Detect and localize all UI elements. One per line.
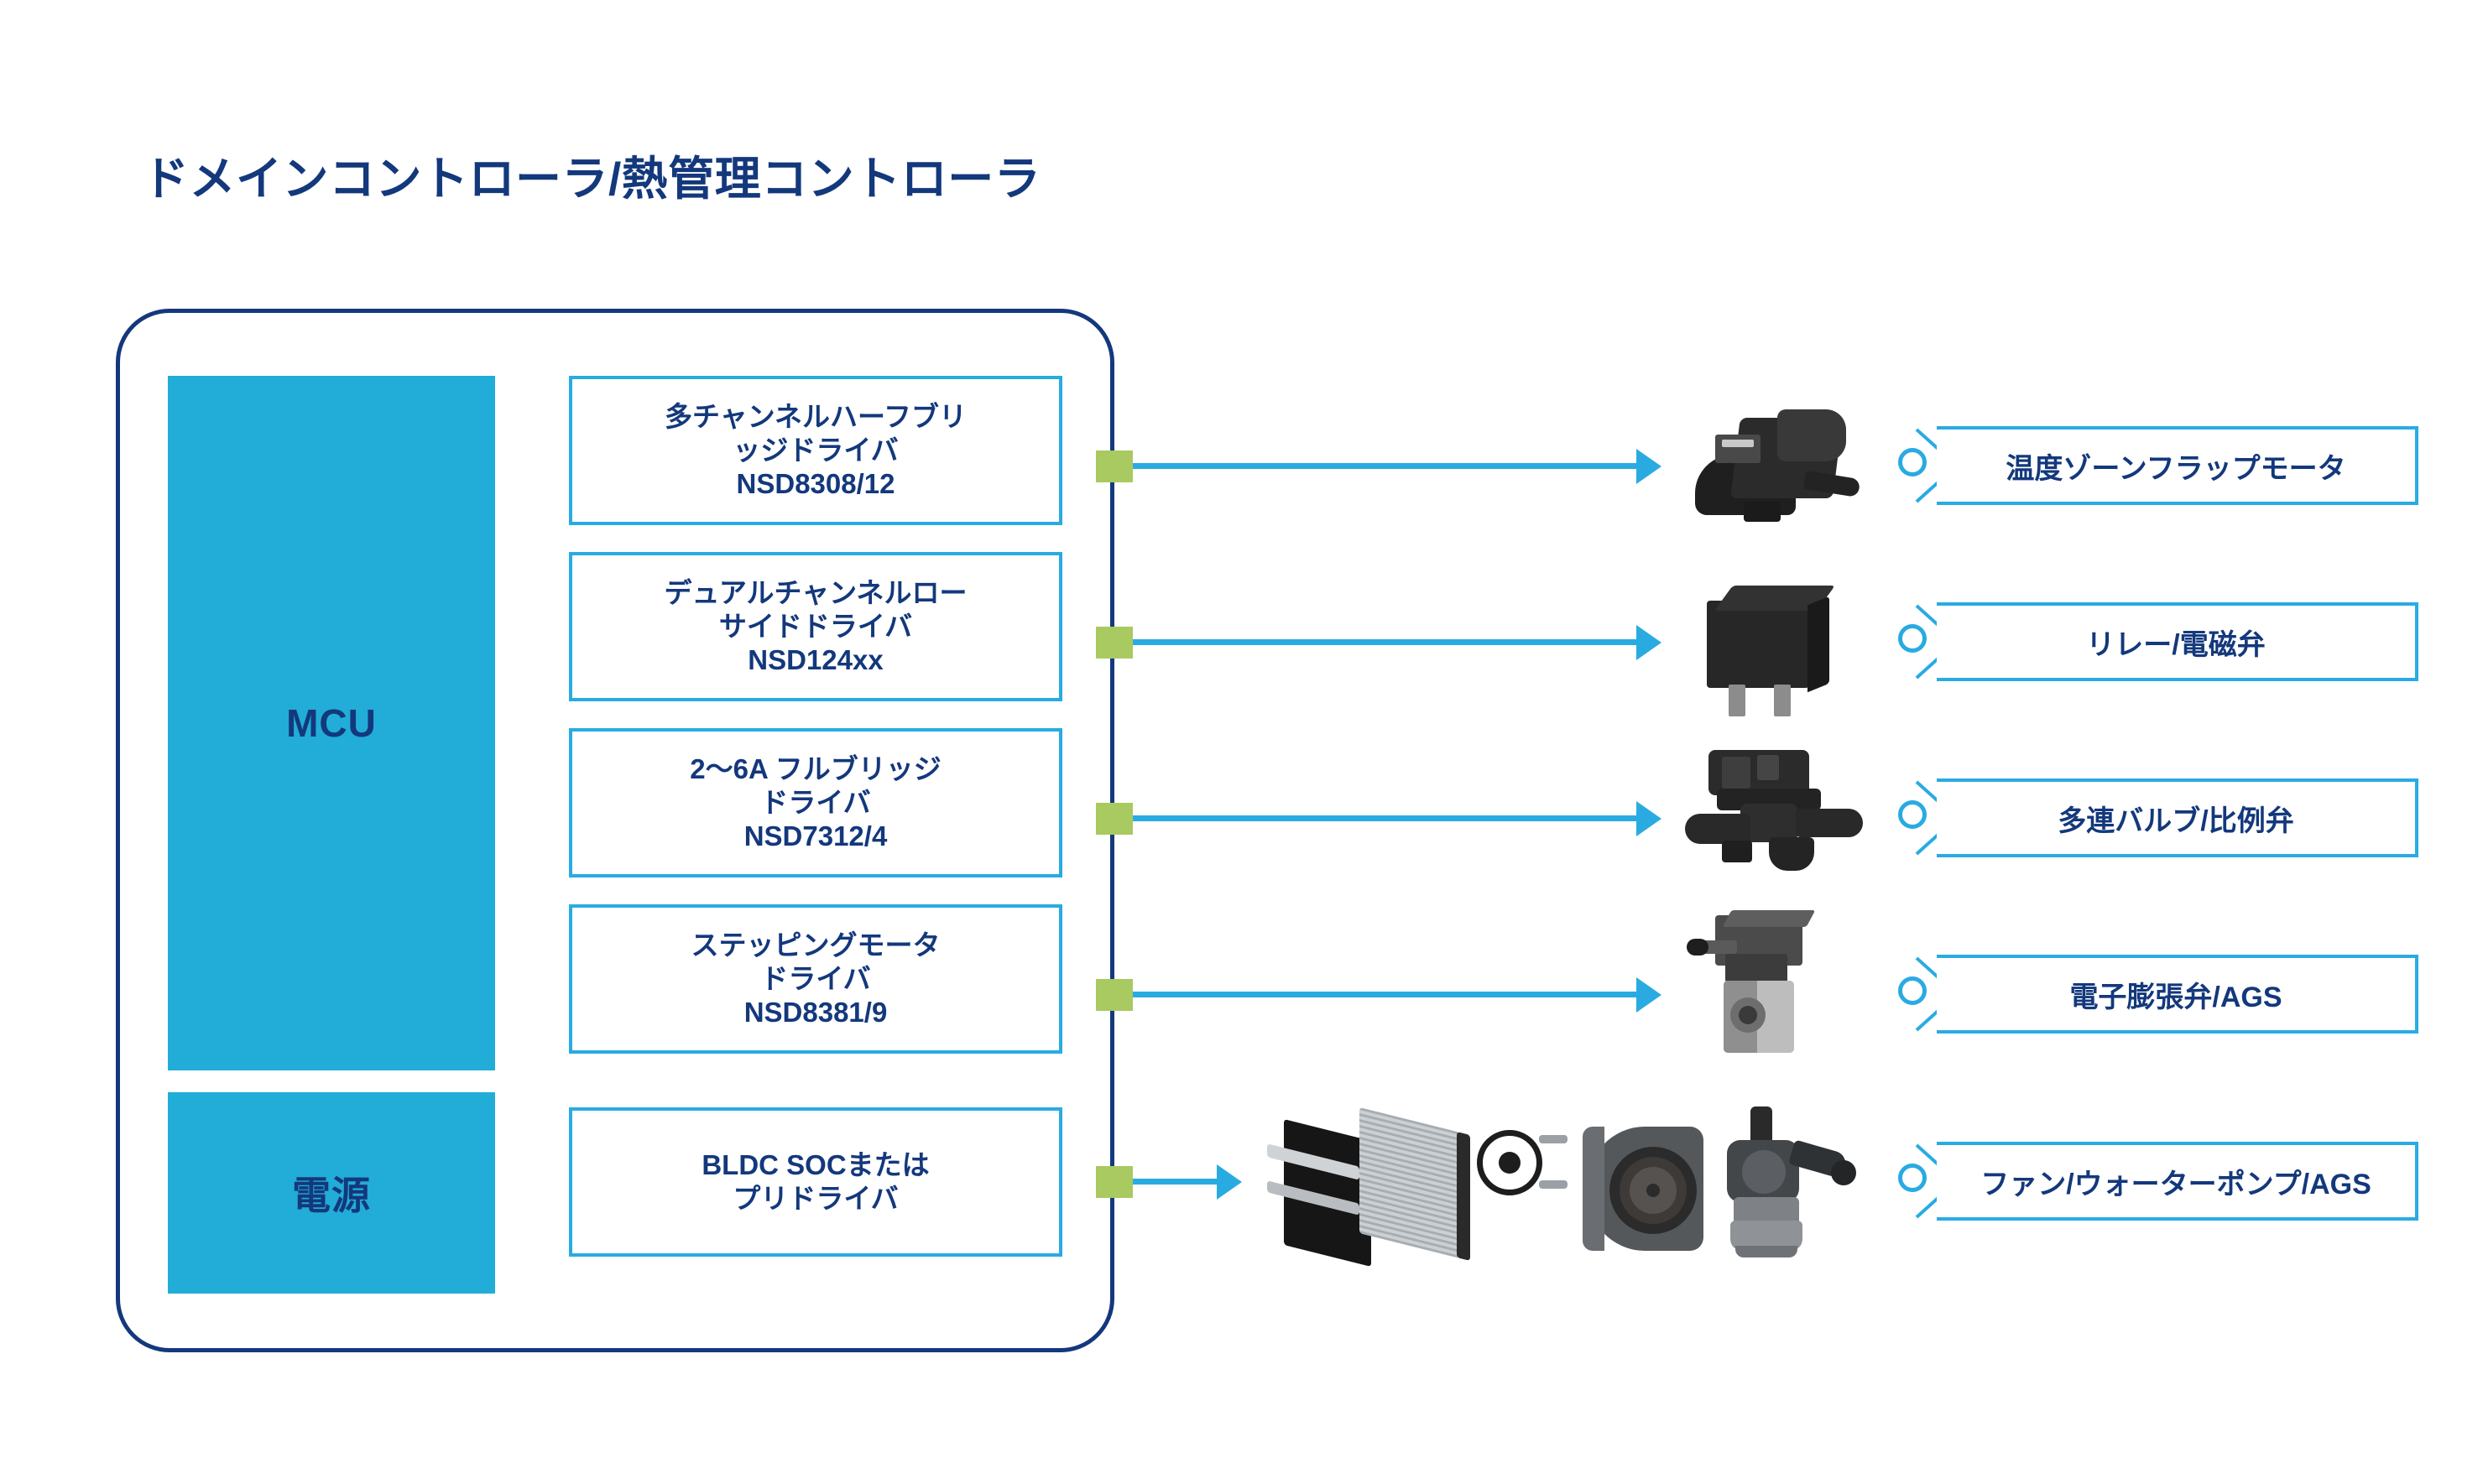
tag-point-icon [1916,605,1939,627]
driver-box-full-bridge[interactable]: 2〜6A フルブリッジ ドライバ NSD7312/4 [569,728,1062,877]
callout-label: リレー/電磁弁 [1937,602,2418,681]
connector-tab-3 [1096,803,1133,835]
tag-point-icon [1916,781,1939,803]
power-block-label: 電源 [292,1165,371,1221]
mcu-block: MCU [168,376,495,1070]
connector-dot-icon [1898,800,1927,829]
arrow-head-4 [1636,977,1661,1013]
arrow-line-2 [1133,639,1636,645]
driver-line: プリドライバ [733,1182,898,1216]
driver-part-number: NSD124xx [748,643,883,677]
tag-point-icon [1916,957,1939,979]
tag-point-icon [1916,429,1939,450]
driver-line: ドライバ [760,962,870,996]
driver-part-number: NSD8381/9 [744,996,888,1029]
callout-flap-motor[interactable]: 温度ゾーンフラップモータ [1898,426,2418,505]
connector-tab-5 [1096,1166,1133,1198]
driver-box-multichannel-half-bridge[interactable]: 多チャンネルハーフブリ ッジドライバ NSD8308/12 [569,376,1062,525]
driver-line: 2〜6A フルブリッジ [690,752,941,786]
expansion-valve-image [1687,910,1842,1065]
driver-line: サイドドライバ [719,610,912,643]
connector-tab-2 [1096,627,1133,659]
tag-point-icon [1916,1144,1939,1166]
arrow-line-4 [1133,992,1636,997]
driver-box-dual-channel-low-side[interactable]: デュアルチャンネルロー サイドドライバ NSD124xx [569,552,1062,701]
tag-point-icon [1916,658,1939,680]
driver-line: ステッピングモータ [691,929,941,962]
multi-valve-image [1670,745,1871,879]
mcu-block-label: MCU [286,700,377,746]
arrow-line-1 [1133,463,1636,469]
driver-line: 多チャンネルハーフブリ [665,400,967,434]
arrow-head-1 [1636,449,1661,484]
driver-line: BLDC SOCまたは [702,1148,929,1182]
callout-expansion-valve[interactable]: 電子膨張弁/AGS [1898,955,2418,1034]
arrow-head-5 [1217,1164,1242,1200]
tag-point-icon [1916,482,1939,503]
connector-tab-4 [1096,979,1133,1011]
fan-pump-image [1250,1086,1871,1296]
arrow-line-5 [1133,1179,1217,1185]
flap-motor-image [1678,403,1871,529]
callout-label: 多連バルブ/比例弁 [1937,778,2418,857]
connector-tab-1 [1096,450,1133,482]
arrow-head-2 [1636,625,1661,660]
callout-relay[interactable]: リレー/電磁弁 [1898,602,2418,681]
relay-image [1695,577,1850,720]
driver-line: デュアルチャンネルロー [664,576,967,610]
callout-label: ファン/ウォーターポンプ/AGS [1937,1142,2418,1221]
tag-point-icon [1916,834,1939,856]
page-title: ドメインコントローラ/熱管理コントローラ [143,141,1041,208]
driver-box-stepper-motor[interactable]: ステッピングモータ ドライバ NSD8381/9 [569,904,1062,1054]
arrow-line-3 [1133,815,1636,821]
connector-dot-icon [1898,976,1927,1005]
callout-fan-pump[interactable]: ファン/ウォーターポンプ/AGS [1898,1142,2418,1221]
callout-label: 電子膨張弁/AGS [1937,955,2418,1034]
driver-line: ッジドライバ [733,434,898,467]
driver-box-bldc-soc-predriver[interactable]: BLDC SOCまたは プリドライバ [569,1107,1062,1257]
callout-multi-valve[interactable]: 多連バルブ/比例弁 [1898,778,2418,857]
driver-part-number: NSD7312/4 [744,820,888,853]
tag-point-icon [1916,1010,1939,1032]
connector-dot-icon [1898,624,1927,653]
callout-label: 温度ゾーンフラップモータ [1937,426,2418,505]
arrow-head-3 [1636,801,1661,836]
power-block: 電源 [168,1092,495,1294]
connector-dot-icon [1898,1164,1927,1192]
connector-dot-icon [1898,448,1927,476]
driver-part-number: NSD8308/12 [737,467,895,501]
tag-point-icon [1916,1197,1939,1219]
driver-line: ドライバ [760,786,870,820]
